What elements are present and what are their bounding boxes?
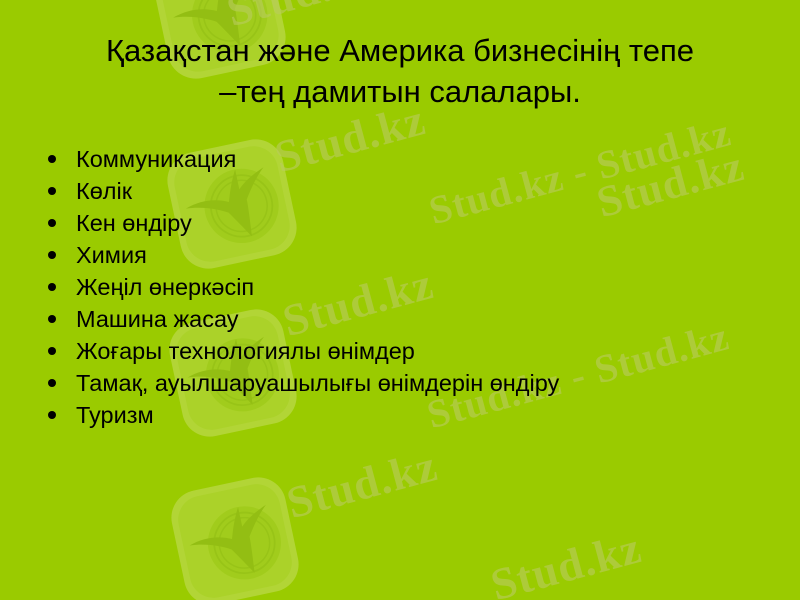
slide-title: Қазақстан және Америка бизнесінің тепе –… [40,30,760,112]
title-line-1: Қазақстан және Америка бизнесінің тепе [40,30,760,71]
list-item: Көлік [40,175,780,207]
list-item-label: Машина жасау [76,306,239,332]
list-item-label: Химия [76,242,147,268]
bullet-dot-icon [48,379,56,387]
bullet-dot-icon [48,187,56,195]
list-item: Туризм [40,399,780,431]
title-line-2: –тең дамитын салалары. [40,71,760,112]
list-item-label: Жоғары технологиялы өнімдер [76,338,415,364]
list-item: Тамақ, ауылшаруашылығы өнімдерін өндіру [40,367,780,399]
list-item: Жоғары технологиялы өнімдер [40,335,780,367]
bullet-dot-icon [48,283,56,291]
list-item: Химия [40,239,780,271]
bullet-dot-icon [48,347,56,355]
list-item-label: Кен өндіру [76,210,192,236]
list-item: Коммуникация [40,143,780,175]
bullet-list: Коммуникация Көлік Кен өндіру Химия Жеңі… [40,143,780,431]
bullet-dot-icon [48,219,56,227]
list-item-label: Жеңіл өнеркәсіп [76,274,254,300]
bullet-dot-icon [48,155,56,163]
list-item: Жеңіл өнеркәсіп [40,271,780,303]
list-item: Кен өндіру [40,207,780,239]
slide-content: Қазақстан және Америка бизнесінің тепе –… [0,0,800,600]
bullet-dot-icon [48,251,56,259]
list-item-label: Тамақ, ауылшаруашылығы өнімдерін өндіру [76,370,559,396]
bullet-dot-icon [48,411,56,419]
bullet-dot-icon [48,315,56,323]
list-item-label: Көлік [76,178,132,204]
list-item-label: Туризм [76,402,154,428]
list-item-label: Коммуникация [76,146,236,172]
presentation-slide: Stud.kz Stud.kz Stud.kz - Stud.kz Stud.k… [0,0,800,600]
list-item: Машина жасау [40,303,780,335]
